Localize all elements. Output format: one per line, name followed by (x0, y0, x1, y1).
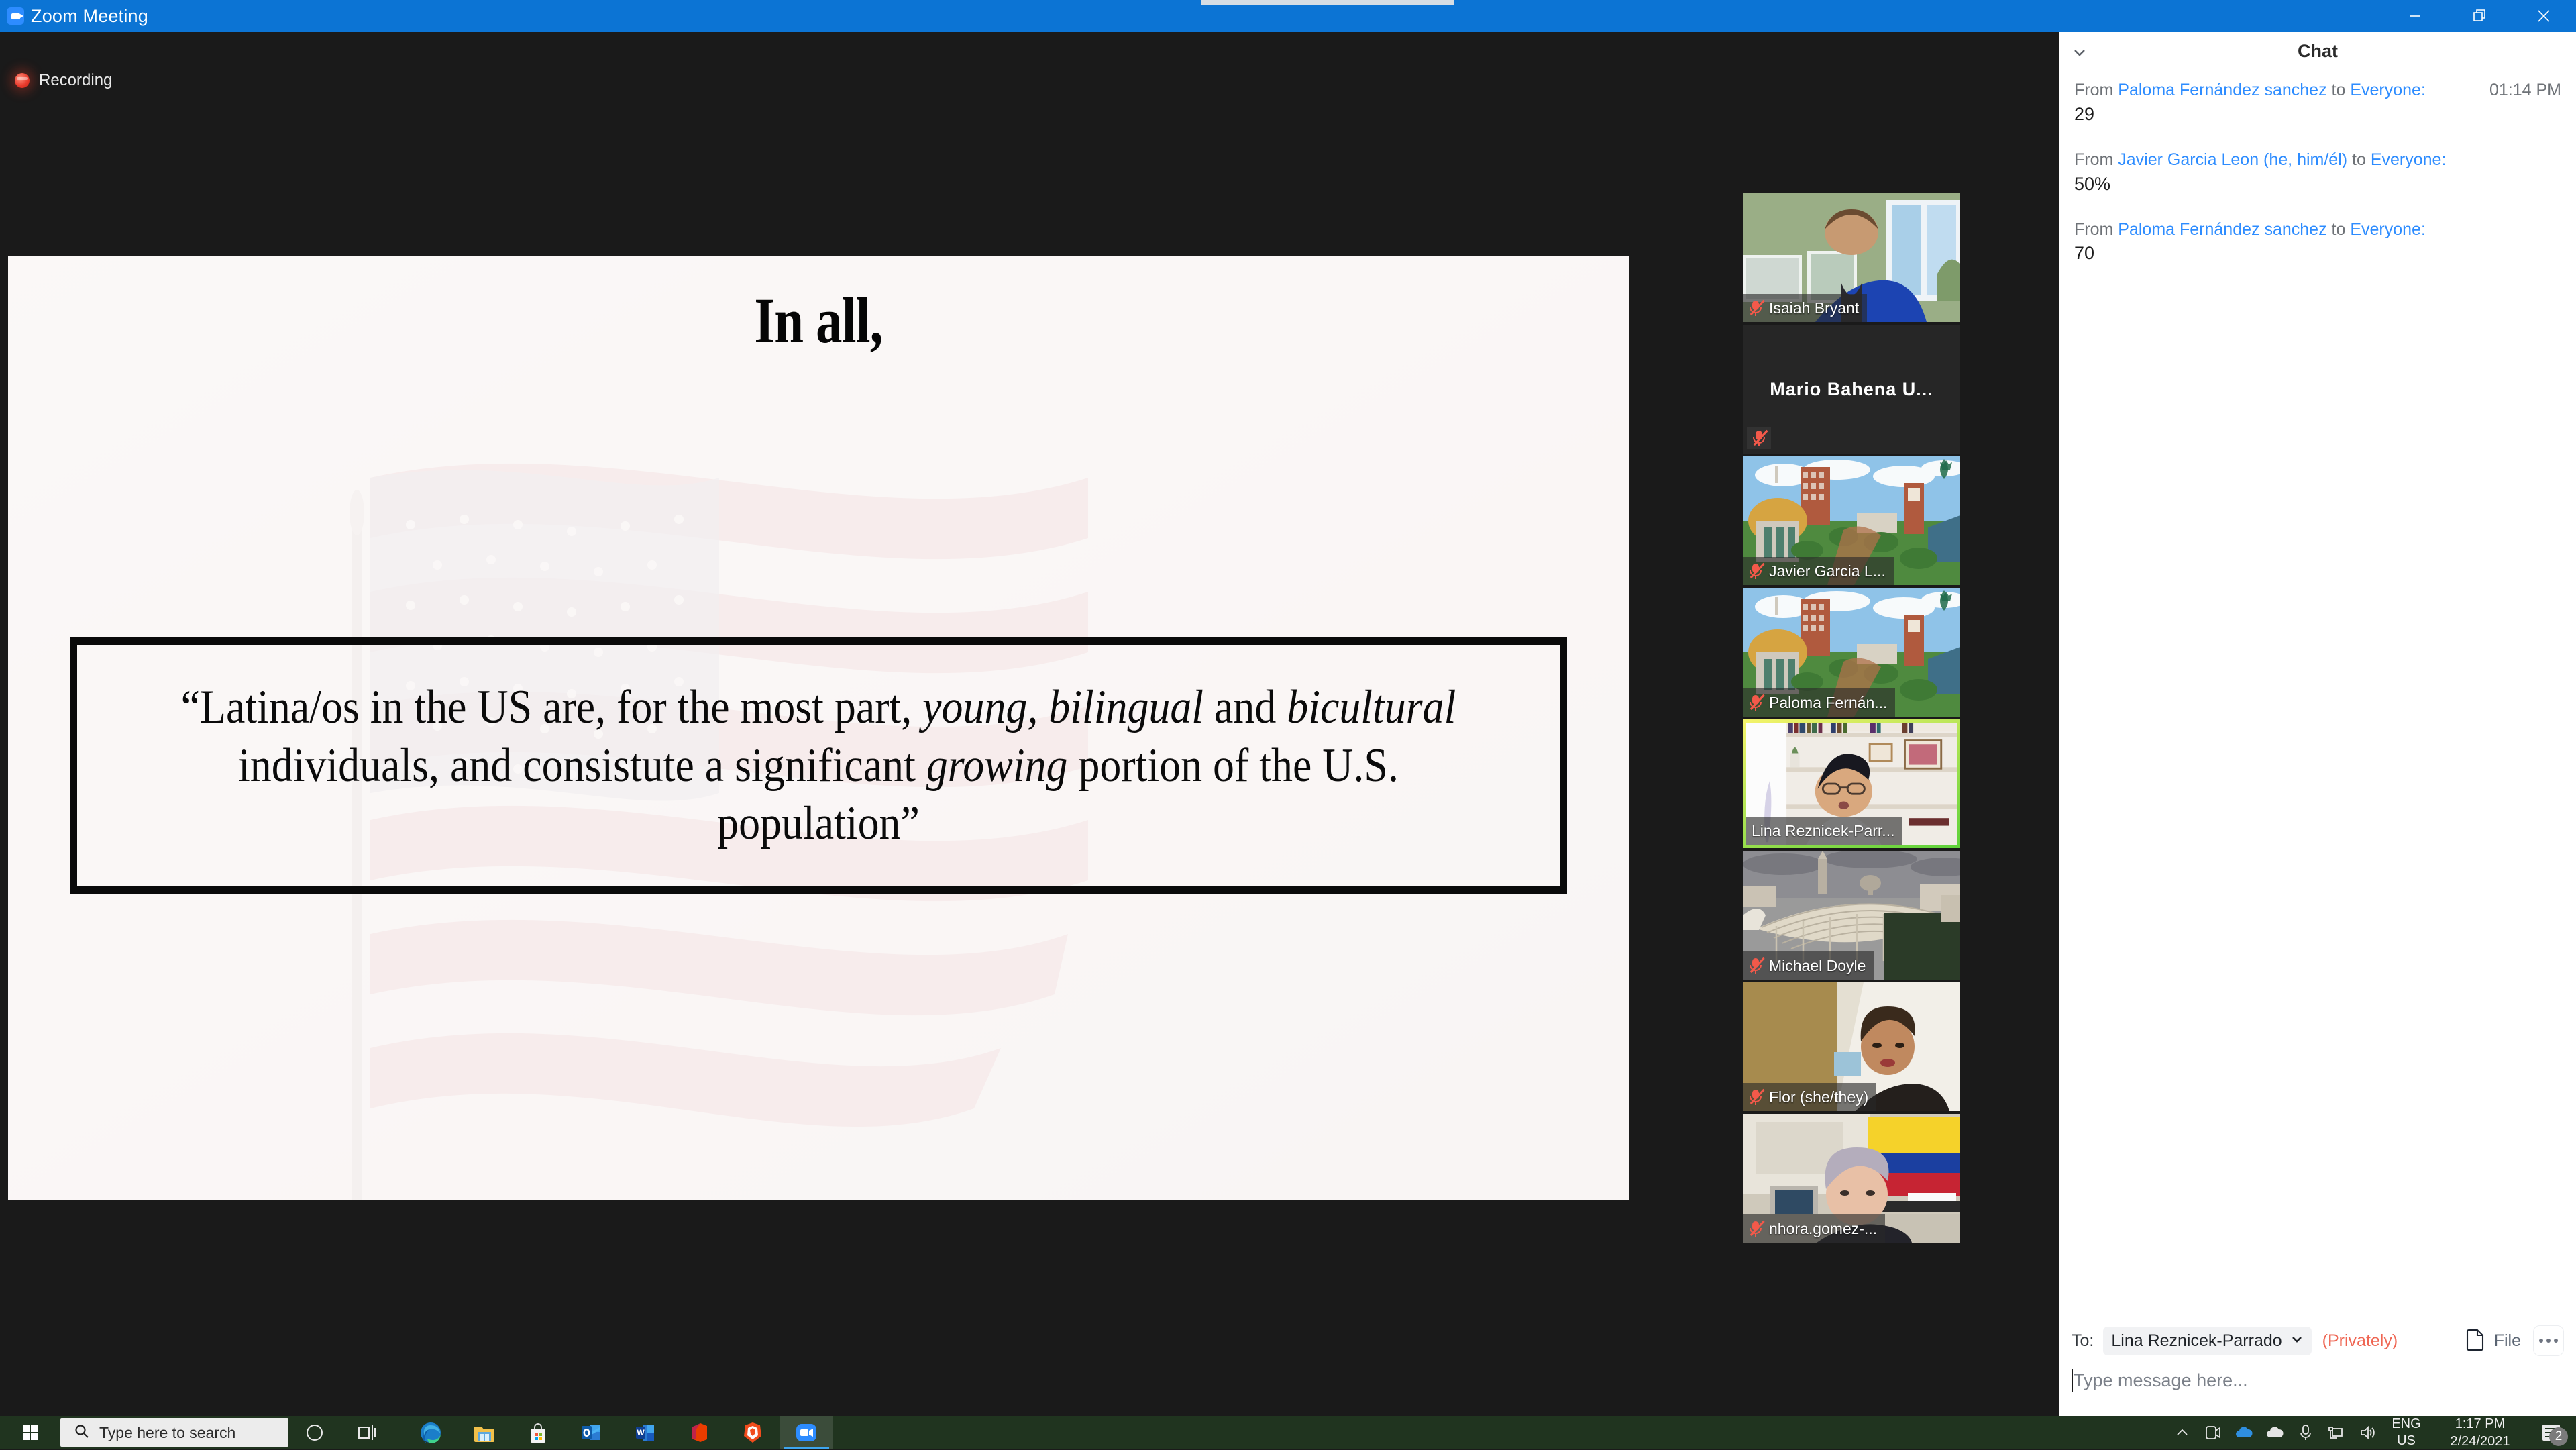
microphone-muted-icon (1748, 562, 1763, 580)
university-crest-icon (1937, 591, 1955, 606)
chat-input-placeholder: Type message here... (2074, 1370, 2248, 1391)
chevron-down-icon[interactable] (2066, 42, 2093, 63)
participant-thumbnail[interactable]: Isaiah Bryant (1743, 193, 1960, 322)
to-prefix: to (2327, 81, 2351, 99)
chat-message-body: 50% (2074, 174, 2561, 195)
svg-text:W: W (637, 1428, 645, 1437)
chat-message-input[interactable]: Type message here... (2072, 1369, 2564, 1392)
quote-run: and (1203, 681, 1287, 733)
privacy-note: (Privately) (2322, 1331, 2398, 1351)
language-indicator[interactable]: ENG US (2383, 1416, 2430, 1449)
chat-message: From Paloma Fernández sanchez to Everyon… (2074, 79, 2561, 125)
meeting-controls-tab[interactable] (1201, 0, 1454, 5)
to-prefix: to (2347, 150, 2371, 169)
search-icon (74, 1423, 90, 1443)
quote-emphasis: bicultural (1287, 681, 1456, 733)
taskbar-app-word[interactable]: W (619, 1416, 672, 1449)
from-prefix: From (2074, 81, 2118, 99)
participant-name: Michael Doyle (1769, 957, 1866, 975)
chat-recipient-name[interactable]: Everyone: (2371, 150, 2447, 169)
close-button[interactable] (2512, 0, 2576, 32)
quote-emphasis: growing (926, 739, 1068, 792)
chat-title: Chat (2298, 41, 2338, 62)
chat-message-time: 01:14 PM (2480, 79, 2561, 102)
chat-message-list[interactable]: From Paloma Fernández sanchez to Everyon… (2059, 70, 2576, 264)
chat-message-header: From Javier Garcia Leon (he, him/él) to … (2074, 149, 2561, 172)
microphone-muted-icon (1748, 694, 1763, 711)
chat-header: Chat (2059, 32, 2576, 70)
microsoft-store-icon (527, 1421, 549, 1444)
chat-message-header: From Paloma Fernández sanchez to Everyon… (2074, 219, 2561, 242)
title-bar-left: Zoom Meeting (0, 6, 148, 27)
microphone-muted-icon (1752, 429, 1766, 447)
chat-sender-name[interactable]: Paloma Fernández sanchez (2118, 220, 2326, 239)
slide-quote-box: “Latina/os in the US are, for the most p… (70, 637, 1567, 894)
chevron-down-icon (2290, 1333, 2304, 1349)
file-explorer-icon (473, 1421, 496, 1444)
chat-compose-row: To: Lina Reznicek-Parrado (Privately) Fi… (2072, 1323, 2564, 1358)
recording-indicator[interactable]: Recording (15, 71, 112, 90)
to-label: To: (2072, 1331, 2094, 1351)
text-caret (2072, 1369, 2073, 1392)
notification-center-button[interactable]: 2 (2530, 1416, 2572, 1449)
participant-thumbnail[interactable]: Mario Bahena U... (1743, 325, 1960, 454)
participant-thumbnail[interactable]: Javier Garcia L... (1743, 456, 1960, 585)
onedrive-personal-icon[interactable] (2229, 1416, 2259, 1449)
microsoft-edge-icon (419, 1421, 442, 1444)
participant-thumbnail-strip[interactable]: Isaiah BryantMario Bahena U... (1743, 193, 1960, 1245)
taskbar-app-brave[interactable] (726, 1416, 780, 1449)
chat-message-body: 29 (2074, 104, 2561, 125)
window-title-bar: Zoom Meeting (0, 0, 2576, 32)
task-view-button[interactable] (341, 1416, 393, 1449)
network-icon[interactable] (2321, 1416, 2352, 1449)
participant-thumbnail[interactable]: Michael Doyle (1743, 851, 1960, 980)
participant-thumbnail[interactable]: Paloma Fernán... (1743, 588, 1960, 717)
dot-icon (2546, 1339, 2551, 1343)
recipient-dropdown[interactable]: Lina Reznicek-Parrado (2103, 1327, 2311, 1355)
from-prefix: From (2074, 150, 2118, 169)
university-crest-icon (1937, 460, 1955, 474)
chat-message-body: 70 (2074, 243, 2561, 264)
clock-time: 1:17 PM (2430, 1415, 2530, 1433)
search-input[interactable]: Type here to search (60, 1418, 288, 1447)
microphone-muted-icon (1748, 299, 1763, 317)
chat-message: From Paloma Fernández sanchez to Everyon… (2074, 219, 2561, 264)
meeting-stage: Recording (0, 32, 2059, 1416)
office-icon (688, 1421, 710, 1444)
chat-message: From Javier Garcia Leon (he, him/él) to … (2074, 149, 2561, 195)
participant-name: Flor (she/they) (1769, 1088, 1868, 1106)
quote-run: individuals, and consistute a significan… (238, 739, 926, 792)
chat-recipient-name[interactable]: Everyone: (2350, 220, 2426, 239)
quote-emphasis: young, bilingual (922, 681, 1203, 733)
quote-run: “Latina/os in the US are, for the most p… (181, 681, 923, 733)
show-hidden-icons-button[interactable] (2167, 1416, 2198, 1449)
chat-recipient-name[interactable]: Everyone: (2350, 81, 2426, 99)
mute-badge (1747, 427, 1771, 449)
file-label: File (2494, 1331, 2521, 1351)
taskbar-app-list: W (404, 1416, 833, 1449)
windows-logo-icon (23, 1425, 38, 1440)
participant-name: Paloma Fernán... (1769, 694, 1887, 712)
onedrive-work-icon[interactable] (2259, 1416, 2290, 1449)
compose-actions: File (2465, 1325, 2564, 1356)
volume-icon[interactable] (2352, 1416, 2383, 1449)
to-prefix: to (2327, 220, 2351, 239)
dot-icon (2539, 1339, 2543, 1343)
taskbar-app-zoom[interactable] (780, 1416, 833, 1449)
shared-screen-slide[interactable]: In all, “Latina/os in the US are, for th… (8, 256, 1629, 1200)
taskbar-app-office[interactable] (672, 1416, 726, 1449)
participant-name: Lina Reznicek-Parr... (1752, 822, 1894, 840)
file-button[interactable]: File (2465, 1328, 2521, 1354)
from-prefix: From (2074, 220, 2118, 239)
chat-panel: Chat From Paloma Fernández sanchez to Ev… (2059, 32, 2576, 1416)
taskbar-app-outlook[interactable] (565, 1416, 619, 1449)
participant-nameplate: nhora.gomez-... (1743, 1214, 1885, 1243)
chat-message-meta: From Javier Garcia Leon (he, him/él) to … (2074, 149, 2446, 172)
slide-quote-text: “Latina/os in the US are, for the most p… (152, 678, 1486, 853)
zoom-camera-icon (7, 7, 24, 25)
window-controls (2383, 0, 2576, 32)
search-placeholder: Type here to search (99, 1424, 235, 1442)
brave-icon (741, 1421, 764, 1444)
zoom-tray-icon[interactable] (2198, 1416, 2229, 1449)
microphone-muted-icon (1748, 1088, 1763, 1106)
participant-nameplate: Paloma Fernán... (1743, 688, 1895, 717)
window-title: Zoom Meeting (31, 6, 148, 27)
recipient-selected-value: Lina Reznicek-Parrado (2111, 1331, 2282, 1351)
slide-heading: In all, (154, 283, 1483, 358)
microphone-icon[interactable] (2290, 1416, 2321, 1449)
system-tray: ENG US 1:17 PM 2/24/2021 2 (2167, 1416, 2576, 1449)
restore-button[interactable] (2447, 0, 2512, 32)
taskbar-app-microsoft-store[interactable] (511, 1416, 565, 1449)
participant-thumbnail[interactable]: Lina Reznicek-Parr... (1743, 719, 1960, 848)
participant-thumbnail[interactable]: nhora.gomez-... (1743, 1114, 1960, 1243)
dot-icon (2554, 1339, 2558, 1343)
region-code: US (2383, 1433, 2430, 1449)
word-icon: W (634, 1421, 657, 1444)
participant-nameplate: Isaiah Bryant (1743, 294, 1867, 322)
participant-nameplate: Javier Garcia L... (1743, 557, 1894, 585)
clock[interactable]: 1:17 PM 2/24/2021 (2430, 1415, 2530, 1450)
participant-name: Isaiah Bryant (1769, 299, 1859, 317)
chat-sender-name[interactable]: Paloma Fernández sanchez (2118, 81, 2326, 99)
cortana-icon (307, 1425, 323, 1441)
participant-name-large: Mario Bahena U... (1743, 325, 1960, 454)
participant-name: nhora.gomez-... (1769, 1220, 1877, 1238)
file-icon (2465, 1328, 2485, 1354)
taskbar-app-microsoft-edge[interactable] (404, 1416, 458, 1449)
microphone-muted-icon (1748, 957, 1763, 974)
task-view-icon (358, 1425, 376, 1440)
chat-message-meta: From Paloma Fernández sanchez to Everyon… (2074, 219, 2426, 242)
taskbar-app-file-explorer[interactable] (458, 1416, 511, 1449)
recording-dot-icon (15, 73, 30, 88)
zoom-icon (795, 1421, 818, 1444)
participant-nameplate: Lina Reznicek-Parr... (1746, 817, 1902, 845)
participant-nameplate: Michael Doyle (1743, 951, 1874, 980)
participant-nameplate: Flor (she/they) (1743, 1083, 1876, 1111)
clock-date: 2/24/2021 (2430, 1433, 2530, 1450)
chat-compose-area: To: Lina Reznicek-Parrado (Privately) Fi… (2059, 1323, 2576, 1392)
chat-message-meta: From Paloma Fernández sanchez to Everyon… (2074, 79, 2426, 102)
outlook-icon (580, 1421, 603, 1444)
participant-name: Javier Garcia L... (1769, 562, 1886, 580)
participant-thumbnail[interactable]: Flor (she/they) (1743, 982, 1960, 1111)
language-code: ENG (2383, 1416, 2430, 1433)
recording-label: Recording (39, 71, 112, 90)
chat-message-header: From Paloma Fernández sanchez to Everyon… (2074, 79, 2561, 102)
windows-taskbar: Type here to search (0, 1416, 2576, 1449)
cortana-button[interactable] (288, 1416, 341, 1449)
more-options-button[interactable] (2533, 1325, 2564, 1356)
start-button[interactable] (0, 1416, 60, 1449)
notification-count-badge: 2 (2549, 1427, 2568, 1446)
minimize-button[interactable] (2383, 0, 2447, 32)
chat-sender-name[interactable]: Javier Garcia Leon (he, him/él) (2118, 150, 2347, 169)
microphone-muted-icon (1748, 1220, 1763, 1237)
